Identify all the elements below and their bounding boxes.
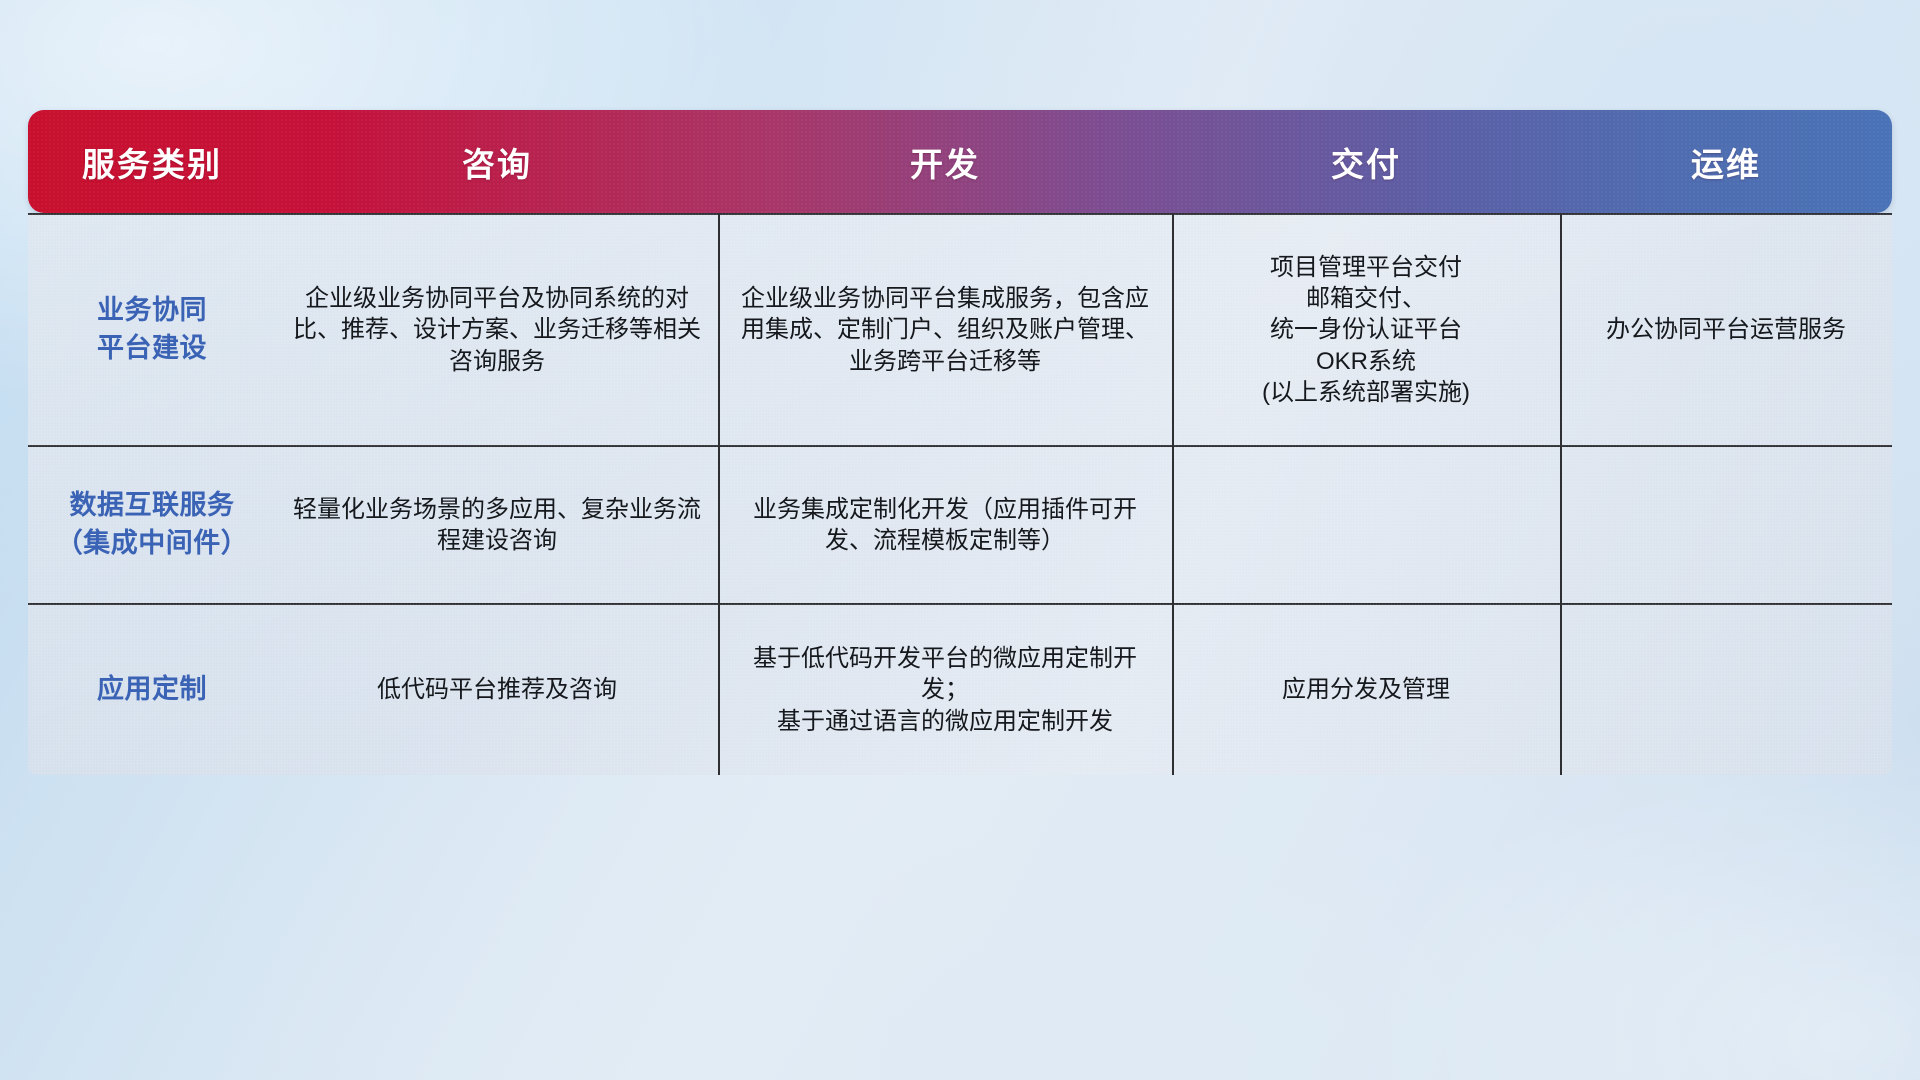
column-header-service-category: 服务类别 xyxy=(28,138,276,186)
cell-development: 业务集成定制化开发（应用插件可开发、流程模板定制等） xyxy=(718,447,1172,603)
table-body: 业务协同 平台建设 企业级业务协同平台及协同系统的对比、推荐、设计方案、业务迁移… xyxy=(28,213,1892,775)
cell-delivery xyxy=(1172,447,1560,603)
table-row: 业务协同 平台建设 企业级业务协同平台及协同系统的对比、推荐、设计方案、业务迁移… xyxy=(28,213,1892,445)
column-divider-3 xyxy=(1560,213,1562,775)
column-header-delivery: 交付 xyxy=(1172,138,1560,186)
cell-development: 企业级业务协同平台集成服务，包含应用集成、定制门户、组织及账户管理、业务跨平台迁… xyxy=(718,215,1172,445)
column-header-operations: 运维 xyxy=(1560,138,1892,186)
column-header-consulting: 咨询 xyxy=(276,138,718,186)
cell-operations xyxy=(1560,605,1892,775)
column-header-development: 开发 xyxy=(718,138,1172,186)
table-row: 数据互联服务 （集成中间件） 轻量化业务场景的多应用、复杂业务流程建设咨询 业务… xyxy=(28,445,1892,603)
column-divider-1 xyxy=(718,213,720,775)
cell-category: 数据互联服务 （集成中间件） xyxy=(28,447,276,603)
table-header-row: 服务类别 咨询 开发 交付 运维 xyxy=(28,110,1892,213)
cell-delivery: 项目管理平台交付 邮箱交付、 统一身份认证平台 OKR系统 (以上系统部署实施) xyxy=(1172,215,1560,445)
cell-consulting: 轻量化业务场景的多应用、复杂业务流程建设咨询 xyxy=(276,447,718,603)
cell-delivery: 应用分发及管理 xyxy=(1172,605,1560,775)
cell-category: 业务协同 平台建设 xyxy=(28,215,276,445)
service-matrix-table: 服务类别 咨询 开发 交付 运维 业务协同 平台建设 企业级业务协同平台及协同系… xyxy=(28,110,1892,775)
cell-consulting: 低代码平台推荐及咨询 xyxy=(276,605,718,775)
cell-development: 基于低代码开发平台的微应用定制开发； 基于通过语言的微应用定制开发 xyxy=(718,605,1172,775)
cell-operations xyxy=(1560,447,1892,603)
cell-operations: 办公协同平台运营服务 xyxy=(1560,215,1892,445)
table-row: 应用定制 低代码平台推荐及咨询 基于低代码开发平台的微应用定制开发； 基于通过语… xyxy=(28,603,1892,775)
cell-category: 应用定制 xyxy=(28,605,276,775)
cell-consulting: 企业级业务协同平台及协同系统的对比、推荐、设计方案、业务迁移等相关咨询服务 xyxy=(276,215,718,445)
column-divider-2 xyxy=(1172,213,1174,775)
